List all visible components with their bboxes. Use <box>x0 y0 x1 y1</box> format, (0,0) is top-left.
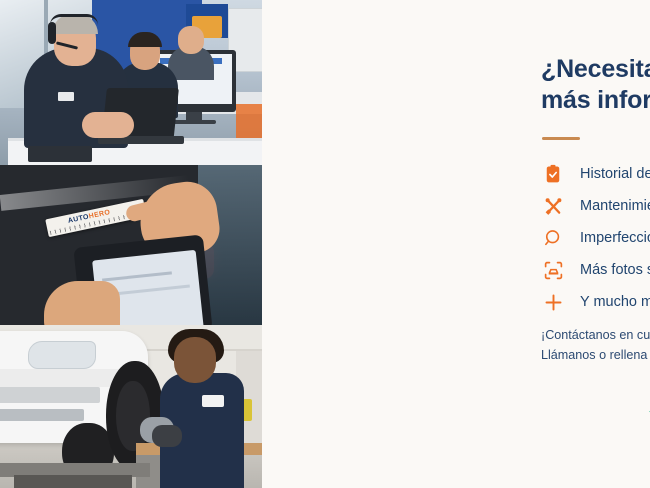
agent-arm <box>82 112 134 138</box>
headlight <box>28 341 96 369</box>
agent-background-head <box>178 26 204 54</box>
list-item[interactable]: Imperfecciones <box>540 222 650 254</box>
mechanic-glove-dark <box>152 425 182 447</box>
page-title: ¿Necesitas más información? <box>541 54 650 116</box>
front-bumper <box>0 369 128 387</box>
title-divider <box>542 137 580 140</box>
headset-earpiece <box>48 22 56 44</box>
monitor-base <box>172 120 216 124</box>
name-badge <box>58 92 74 101</box>
plus-icon <box>540 289 566 315</box>
list-item-label: Historial de mantenimientos <box>580 166 650 182</box>
contact-line-2: Llámanos o rellena el formulario de cont… <box>541 345 650 365</box>
car-lift-base <box>14 475 132 488</box>
headset-band <box>50 14 98 25</box>
content-panel: ¿Necesitas más información? Estamos enca… <box>262 0 650 488</box>
page-title-line-2: más información? <box>541 85 650 116</box>
call-center-agents-photo <box>0 0 262 165</box>
magnifier-icon <box>540 225 566 251</box>
list-item-label: Y mucho más <box>580 294 650 310</box>
mechanic-wheel-inspection-photo <box>0 325 262 488</box>
list-item[interactable]: Historial de mantenimientos <box>540 158 650 190</box>
list-item-label: Imperfecciones <box>580 230 650 246</box>
tools-cross-icon <box>540 193 566 219</box>
page-title-line-1: ¿Necesitas <box>541 54 650 85</box>
grille-upper <box>0 387 100 403</box>
promo-card: AUTOHERO <box>0 0 650 488</box>
contact-line-1: ¡Contáctanos en cualquier momento para m… <box>541 325 650 345</box>
grille-lower <box>0 409 84 421</box>
car-scan-frame-icon <box>540 257 566 283</box>
mechanic-head <box>174 337 216 383</box>
feature-list: Historial de mantenimientos Mantenimient… <box>540 158 650 318</box>
desk-tablet <box>28 146 92 162</box>
ruler-inspection-tablet-photo: AUTOHERO <box>0 165 262 325</box>
contact-text: ¡Contáctanos en cualquier momento para m… <box>541 325 650 365</box>
list-item[interactable]: Y mucho más <box>540 286 650 318</box>
photo-column: AUTOHERO <box>0 0 262 488</box>
list-item[interactable]: Mantenimiento realizado <box>540 190 650 222</box>
list-item[interactable]: Más fotos sobre el coche <box>540 254 650 286</box>
mechanic-logo-patch <box>202 395 224 407</box>
clipboard-check-icon <box>540 161 566 187</box>
list-item-label: Más fotos sobre el coche <box>580 262 650 278</box>
list-item-label: Mantenimiento realizado <box>580 198 650 214</box>
